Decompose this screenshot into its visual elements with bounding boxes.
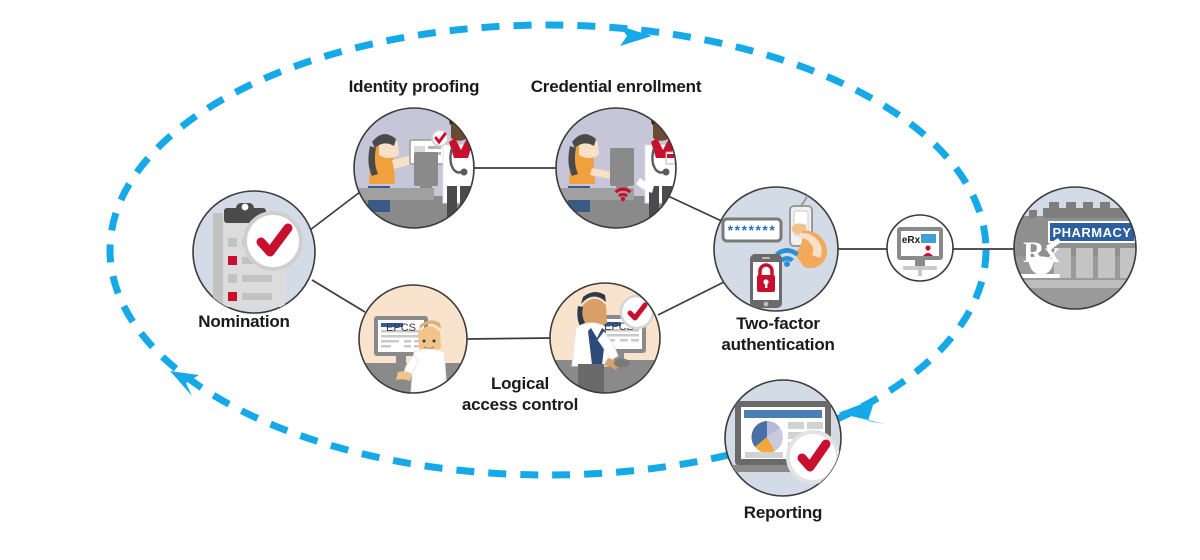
node-erx[interactable]: eRx [887,215,953,281]
node-nomination[interactable] [193,191,315,313]
node-reporting[interactable] [725,380,841,496]
connector-lacr-twofactor [658,282,724,315]
pharmacy-sign-text: PHARMACY [1052,225,1131,240]
report-dashboard-check-icon [728,401,838,482]
diagram-graphics: EPCS [0,0,1200,560]
node-logical-access-control-right[interactable]: EPCS [550,283,662,394]
node-pharmacy[interactable]: PHARMACY Rx [1014,187,1137,310]
svg-text:EPCS: EPCS [386,322,416,334]
pharmacy-storefront-icon: PHARMACY Rx [1014,202,1137,310]
erx-monitor-icon: eRx [897,227,943,276]
erx-screen-text: eRx [902,235,921,246]
node-credential-enrollment[interactable] [556,108,676,228]
password-mask-text: ******* [728,222,777,238]
node-identity-proofing[interactable] [354,108,474,228]
connector-nomination-identity [310,192,360,230]
connector-nomination-lacl [312,280,365,312]
connector-credential-twofactor [668,196,728,224]
diagram-canvas: EPCS [0,0,1200,560]
node-logical-access-control-left[interactable]: EPCS [359,285,469,395]
node-two-factor-authentication[interactable]: ******* [714,186,838,311]
cycle-arrow-bottomright-icon [838,399,885,424]
connector-lacl-lacr [467,338,551,339]
